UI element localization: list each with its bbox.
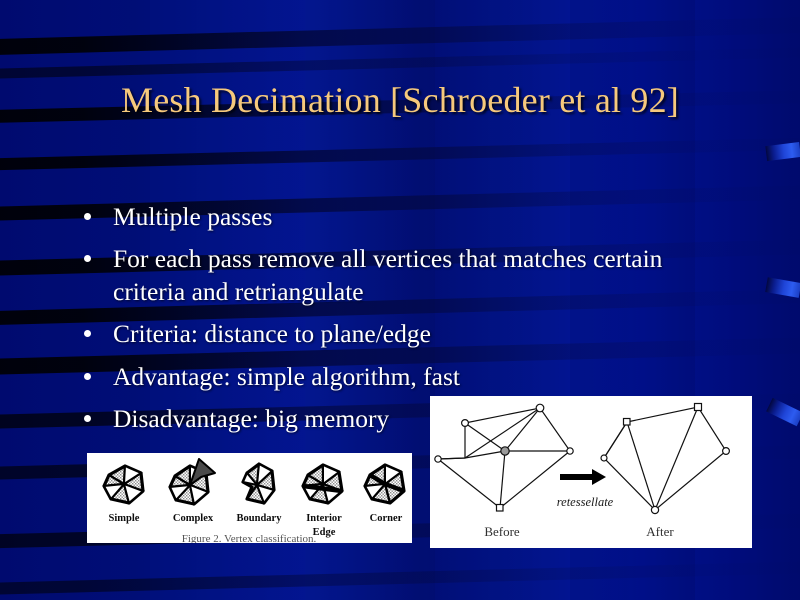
bullet-dot-icon: [84, 415, 91, 422]
figure-caption-clipped: Figure 2. Vertex classification.: [182, 533, 317, 543]
vertex-label-interior-edge: Interior: [306, 513, 342, 524]
vertex-icon-corner: [365, 465, 404, 503]
vertex-icon-simple: [104, 466, 143, 503]
retessellate-arrow-icon: [560, 469, 606, 485]
bullet-dot-icon: [84, 373, 91, 380]
bullet-text: Criteria: distance to plane/edge: [113, 317, 714, 350]
figure-vertex-classification: Simple Complex Boundary: [87, 453, 412, 543]
list-item: Criteria: distance to plane/edge: [84, 317, 714, 350]
list-item: Advantage: simple algorithm, fast: [84, 360, 714, 393]
retessellate-label: retessellate: [557, 495, 614, 509]
mesh-before: [438, 408, 570, 508]
before-label: Before: [484, 524, 520, 539]
after-label: After: [646, 524, 674, 539]
vertex-label-simple: Simple: [109, 513, 140, 524]
bullet-text: Multiple passes: [113, 200, 714, 233]
slide-title: Mesh Decimation [Schroeder et al 92]: [0, 82, 800, 120]
bullet-dot-icon: [84, 213, 91, 220]
bullet-text: For each pass remove all vertices that m…: [113, 242, 714, 308]
vertex-icon-interior-edge: [303, 465, 342, 503]
vertex-icon-complex: [170, 459, 215, 504]
list-item: Multiple passes: [84, 200, 714, 233]
slide-canvas: Mesh Decimation [Schroeder et al 92] Mul…: [0, 0, 800, 600]
vertex-classification-svg: Simple Complex Boundary: [87, 453, 412, 543]
vertex-label-boundary: Boundary: [237, 513, 283, 524]
mesh-after: [604, 407, 726, 510]
vertex-label-corner: Corner: [370, 513, 403, 524]
mesh-after-vertices: [601, 404, 729, 514]
bullet-dot-icon: [84, 330, 91, 337]
retessellate-svg: retessellate Before After: [430, 396, 752, 548]
bullet-text: Advantage: simple algorithm, fast: [113, 360, 714, 393]
vertex-label-complex: Complex: [173, 513, 214, 524]
list-item: For each pass remove all vertices that m…: [84, 242, 714, 308]
bullet-dot-icon: [84, 255, 91, 262]
figure-retessellate: retessellate Before After: [430, 396, 752, 548]
vertex-icon-boundary: [243, 464, 274, 503]
